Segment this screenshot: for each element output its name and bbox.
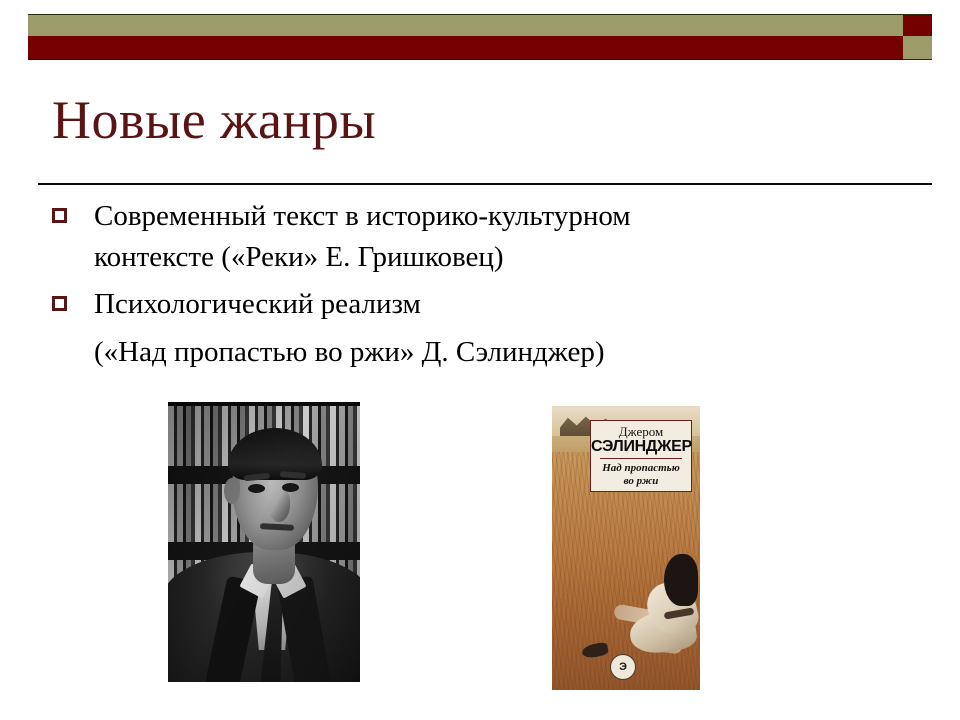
list-item: Современный текст в историко-культурном … bbox=[52, 196, 912, 278]
header-band-row-top bbox=[28, 14, 932, 36]
square-bullet-icon bbox=[52, 208, 67, 223]
page-title: Новые жанры bbox=[52, 92, 912, 149]
publisher-logo-icon: Э bbox=[610, 654, 636, 680]
title-divider-rule bbox=[38, 183, 932, 185]
header-band-row-bottom bbox=[28, 36, 932, 59]
header-band-olive-cap bbox=[903, 36, 932, 60]
list-item: Психологический реализм bbox=[52, 284, 912, 325]
cover-author-first-name: Джером bbox=[591, 425, 691, 439]
list-item-line-1: Современный текст в историко-культурном bbox=[94, 200, 631, 232]
list-item-text: Психологический реализм bbox=[94, 284, 912, 325]
decorative-header-band bbox=[28, 14, 932, 59]
salinger-portrait-photo bbox=[168, 402, 360, 682]
cover-author-last-name: СЭЛИНДЖЕР bbox=[591, 439, 691, 456]
list-item-line-2: контексте («Реки» Е. Гришковец) bbox=[94, 241, 504, 273]
list-item-continuation: («Над пропастью во ржи» Д. Сэлинджер) bbox=[94, 332, 912, 373]
portrait-grayscale-overlay bbox=[168, 402, 360, 682]
cover-panel-divider bbox=[600, 458, 682, 459]
book-cover-image: Джером СЭЛИНДЖЕР Над пропастью во ржи Э bbox=[552, 406, 700, 690]
cover-book-title-line-1: Над пропастью bbox=[591, 462, 691, 475]
header-band-olive-main bbox=[28, 14, 903, 37]
publisher-logo-glyph: Э bbox=[619, 662, 627, 673]
header-band-darkred-cap bbox=[903, 14, 932, 37]
bullet-list: Современный текст в историко-культурном … bbox=[52, 196, 912, 373]
list-item-text: Современный текст в историко-культурном … bbox=[94, 196, 912, 278]
square-bullet-icon bbox=[52, 296, 67, 311]
cover-title-panel: Джером СЭЛИНДЖЕР Над пропастью во ржи bbox=[590, 420, 692, 492]
header-band-darkred-main bbox=[28, 36, 903, 60]
list-item-line-1: Психологический реализм bbox=[94, 288, 421, 320]
cover-figure-hair bbox=[664, 554, 698, 606]
cover-book-title-line-2: во ржи bbox=[591, 475, 691, 488]
